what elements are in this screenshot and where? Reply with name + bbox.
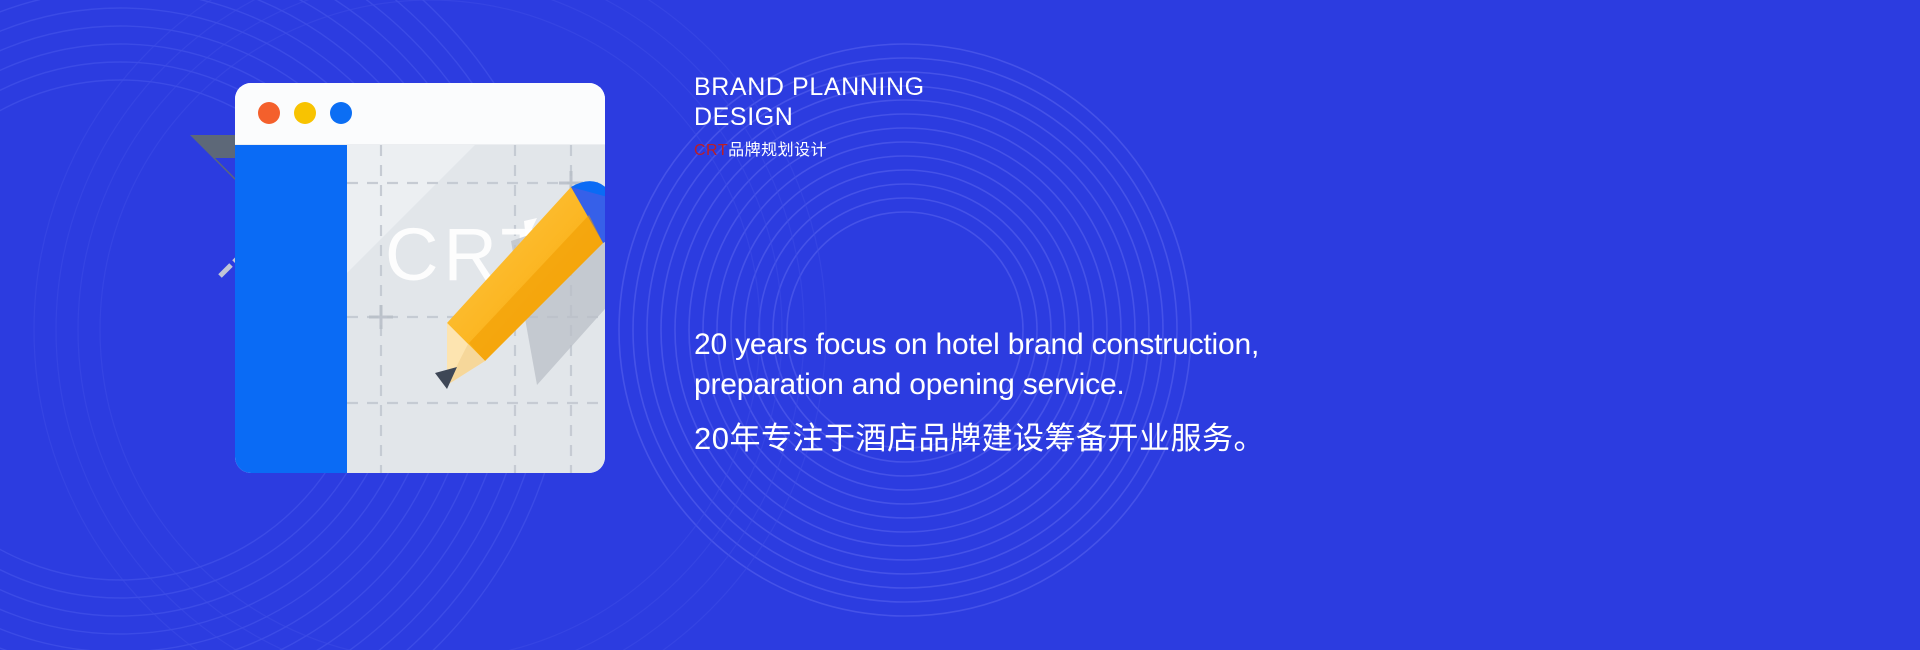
window-dot-red[interactable] bbox=[258, 102, 280, 124]
hero-copy-column: BRAND PLANNING DESIGN CRT品牌规划设计 20 years… bbox=[694, 0, 1594, 650]
eyebrow-brand-crt: CRT bbox=[694, 142, 728, 159]
hero-banner: CRT bbox=[0, 0, 1920, 650]
headline-block: 20 years focus on hotel brand constructi… bbox=[694, 325, 1454, 459]
eyebrow-chinese: CRT品牌规划设计 bbox=[694, 141, 1214, 161]
eyebrow-block: BRAND PLANNING DESIGN CRT品牌规划设计 bbox=[694, 72, 1214, 161]
brand-design-illustration: CRT bbox=[185, 55, 705, 475]
window-dot-yellow[interactable] bbox=[294, 102, 316, 124]
eyebrow-english: BRAND PLANNING DESIGN bbox=[694, 72, 1214, 132]
window-dot-blue[interactable] bbox=[330, 102, 352, 124]
eyebrow-chinese-rest: 品牌规划设计 bbox=[728, 142, 827, 159]
headline-english: 20 years focus on hotel brand constructi… bbox=[694, 325, 1454, 405]
browser-window-card: CRT bbox=[235, 83, 621, 473]
headline-chinese: 20年专注于酒店品牌建设筹备开业服务。 bbox=[694, 419, 1454, 459]
